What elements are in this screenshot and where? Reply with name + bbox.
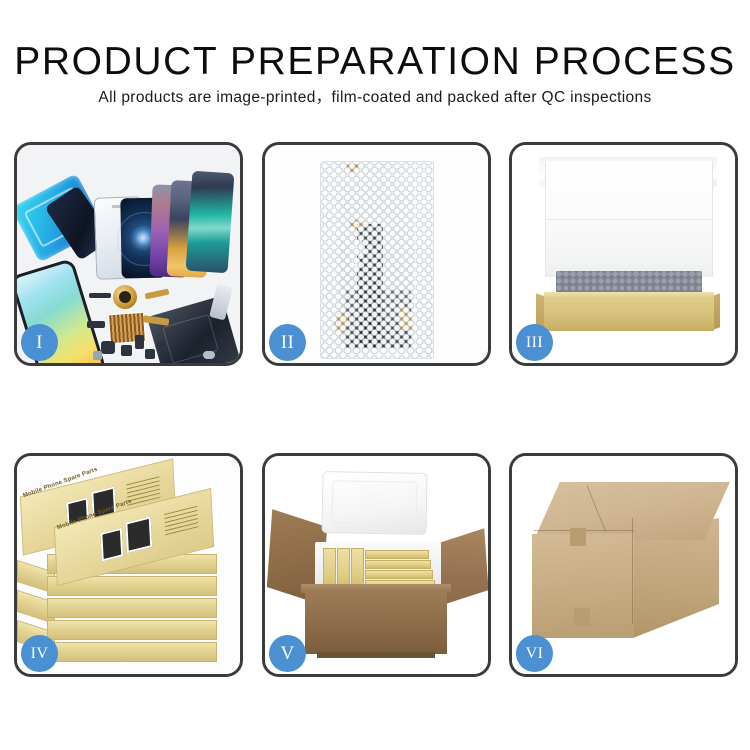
page-header: PRODUCT PREPARATION PROCESS All products… [0,0,750,132]
step-badge-1: I [21,324,58,361]
step-panel-2[interactable]: II [262,142,491,366]
carton-front [305,590,447,654]
step-1-image: I [17,145,240,363]
small-part [157,341,165,349]
step-6-image: VI [512,456,735,674]
step-badge-6: VI [516,635,553,672]
bubble-wrap-bag [320,161,434,359]
stack-slab [47,620,217,640]
step-badge-3: III [516,324,553,361]
spec-text-block [164,505,198,536]
foam-box-lid [321,471,427,535]
carton-tape-tab [574,608,590,626]
small-part [93,351,102,360]
step-panel-1[interactable]: I [14,142,243,366]
small-part [87,321,105,328]
process-steps-grid: I II [14,142,738,679]
yellow-product-box [365,570,433,579]
step-panel-6[interactable]: VI [509,453,738,677]
step-panel-3[interactable]: III [509,142,738,366]
step-badge-4: IV [21,635,58,672]
small-part [135,335,144,349]
step-panel-4[interactable]: Mobile Phone Spare Parts Mobile Phone Sp… [14,453,243,677]
bubble-texture [321,162,433,358]
carton-tape-tab [570,528,586,546]
lid-seam [546,219,712,220]
stack-slab [47,598,217,618]
camera-ring-part [113,285,137,309]
step-panel-5[interactable]: V [262,453,491,677]
small-part [89,293,111,298]
carton-base-shadow [317,652,435,658]
step-badge-5: V [269,635,306,672]
step-4-image: Mobile Phone Spare Parts Mobile Phone Sp… [17,456,240,674]
page-subtitle: All products are image-printed，film-coat… [0,88,750,108]
yellow-product-box [365,550,429,559]
small-part [121,345,132,356]
product-photo-swatch [125,516,152,553]
step-badge-2: II [269,324,306,361]
page-title: PRODUCT PREPARATION PROCESS [0,41,750,83]
step-5-image: V [265,456,488,674]
stack-slab [47,642,217,662]
product-photo-swatch [100,528,123,562]
step-2-image: II [265,145,488,363]
small-part [203,351,215,359]
step-3-image: III [512,145,735,363]
teal-gradient-screen [186,171,235,274]
small-part [145,349,155,359]
carton-corner-edge [632,518,633,624]
yellow-product-box [365,560,431,569]
kraft-box-front [544,297,714,331]
white-box-lid [545,161,713,277]
small-part [101,341,115,354]
